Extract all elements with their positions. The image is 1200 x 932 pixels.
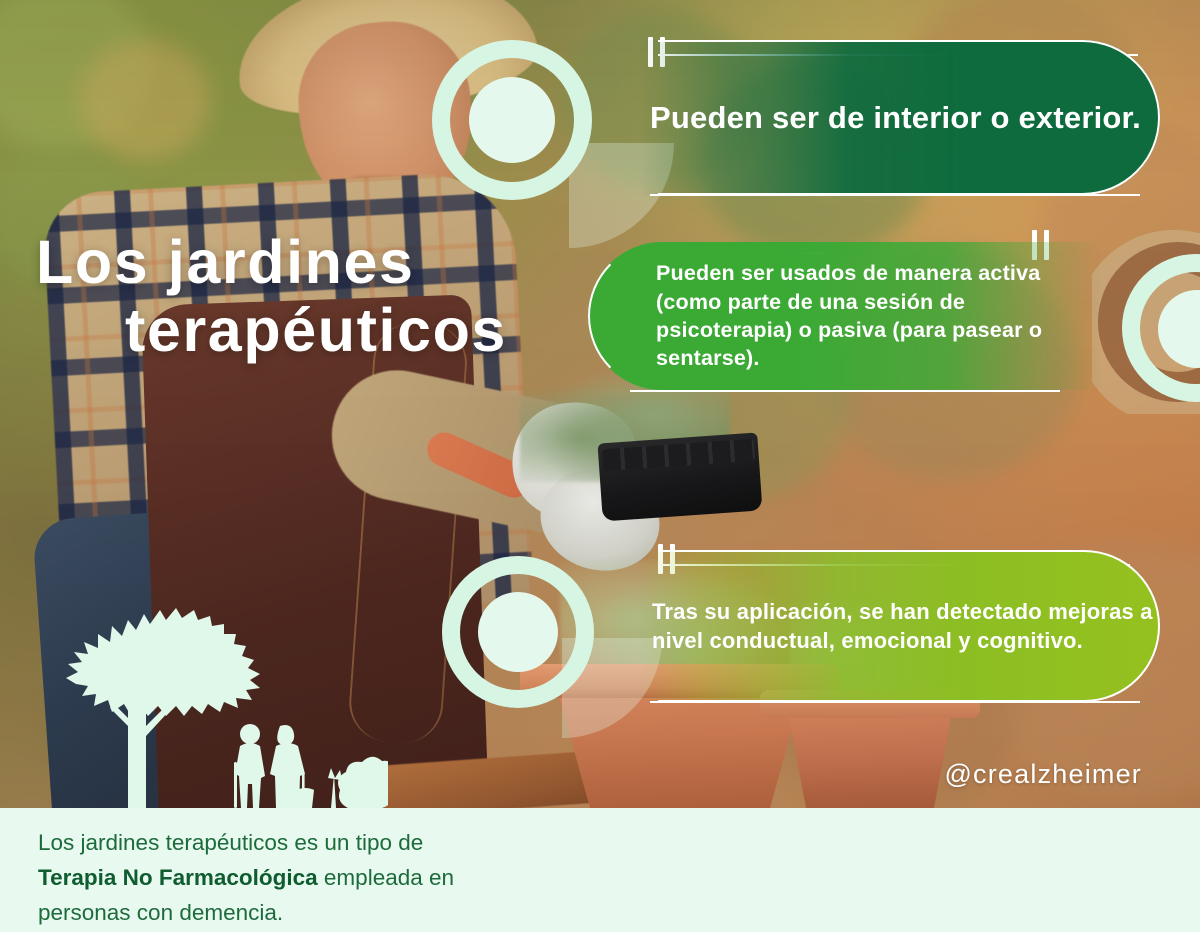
decorative-circle-bottom [432, 542, 652, 742]
card-rule-bottom [650, 194, 1140, 196]
footer-bold-term: Terapia No Farmacológica [38, 865, 318, 890]
footer-description: Los jardines terapéuticos es un tipo de … [38, 826, 638, 931]
infographic-poster: Los jardines terapéuticos [0, 0, 1200, 932]
page-title: Los jardines terapéuticos [36, 228, 596, 365]
footer-bar: Los jardines terapéuticos es un tipo de … [0, 808, 1200, 932]
info-card-2-text: Pueden ser usados de manera activa (como… [588, 259, 1100, 373]
info-card-1: Pueden ser de interior o exterior. [640, 40, 1160, 195]
info-card-1-body: Pueden ser de interior o exterior. [640, 40, 1160, 195]
info-card-2: Pueden ser usados de manera activa (como… [588, 242, 1100, 390]
tree-and-people-silhouette [48, 566, 388, 808]
footer-line-3: personas con demencia. [38, 900, 283, 925]
card-rule-bottom [630, 390, 1060, 392]
circle-core [478, 592, 558, 672]
footer-line-1: Los jardines terapéuticos es un tipo de [38, 830, 423, 855]
circle-core [469, 77, 555, 163]
info-card-3-body: Tras su aplicación, se han detectado mej… [640, 550, 1160, 702]
info-card-2-body: Pueden ser usados de manera activa (como… [588, 242, 1100, 390]
footer-line-2-rest: empleada en [318, 865, 454, 890]
bokeh-blob [80, 40, 210, 160]
info-card-3-text: Tras su aplicación, se han detectado mej… [640, 597, 1160, 656]
social-handle: @crealzheimer [944, 759, 1142, 790]
page-title-line2: terapéuticos [36, 296, 596, 364]
info-card-3: Tras su aplicación, se han detectado mej… [640, 550, 1160, 702]
info-card-1-text: Pueden ser de interior o exterior. [640, 99, 1141, 137]
decorative-circle-top [424, 28, 654, 258]
page-title-line1: Los jardines [36, 228, 596, 296]
background-photo: Los jardines terapéuticos [0, 0, 1200, 808]
card-rule-bottom [650, 701, 1140, 703]
decorative-circle-right [1092, 214, 1200, 414]
seedling-tray [597, 433, 762, 522]
